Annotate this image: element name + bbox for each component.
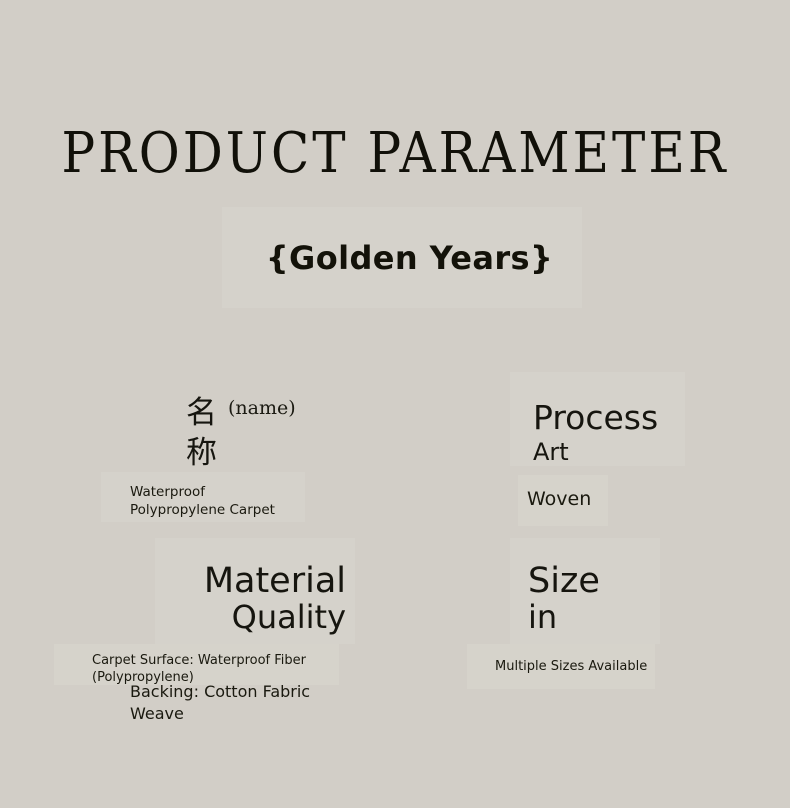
spec-label-process-line2: Art xyxy=(533,436,733,469)
spec-label-size: Sizein xyxy=(528,564,688,636)
spec-value-name: Waterproof Polypropylene Carpet xyxy=(130,483,298,519)
spec-label-size-line2: in xyxy=(528,598,688,636)
spec-value-process: Woven xyxy=(527,486,591,512)
page-subtitle: {Golden Years} xyxy=(222,236,597,280)
spec-label-size-line1: Size xyxy=(528,561,600,601)
spec-label-material-line2: Quality xyxy=(120,598,346,636)
spec-label-material-line1: Material xyxy=(204,561,346,601)
spec-label-process: ProcessArt xyxy=(533,400,733,469)
spec-label-name-en: (name) xyxy=(228,396,296,420)
spec-value-material-backing: Backing: Cotton Fabric Weave xyxy=(130,681,340,725)
spec-value-size: Multiple Sizes Available xyxy=(495,658,675,676)
spec-label-process-line1: Process xyxy=(533,398,658,437)
spec-label-material: MaterialQuality xyxy=(120,564,346,636)
page-title: PRODUCT PARAMETER xyxy=(0,118,790,187)
